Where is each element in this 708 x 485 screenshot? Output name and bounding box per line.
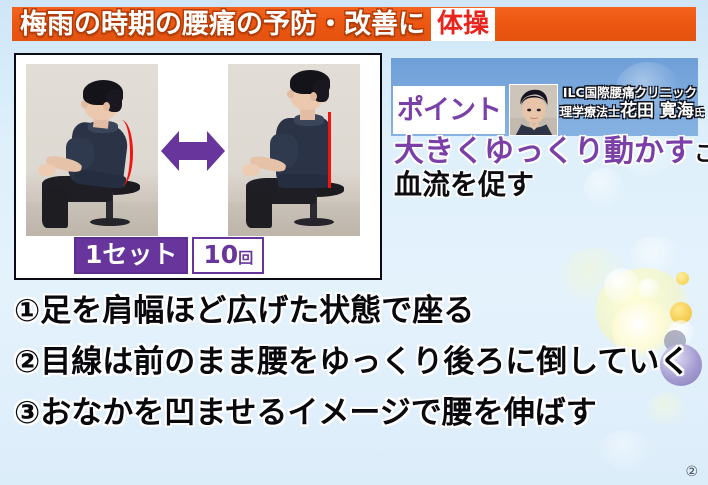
spine-straight-marker — [314, 112, 331, 188]
stool-base — [294, 218, 334, 226]
point-heading: ポイント — [397, 97, 501, 124]
point-line-2: 血流を促す — [394, 171, 706, 199]
reps-label: 10回 — [192, 237, 264, 274]
set-label: 1セット — [74, 237, 188, 274]
infographic-screen: 梅雨の時期の腰痛の予防・改善に 体操 — [0, 0, 708, 485]
hand — [242, 164, 260, 176]
credit-suffix: 氏 — [694, 108, 704, 119]
page-title: 梅雨の時期の腰痛の予防・改善に — [20, 11, 425, 38]
lower-leg — [246, 190, 272, 228]
credit-clinic: ILC国際腰痛クリニック — [560, 86, 700, 100]
bubble-decor-icon — [628, 236, 682, 276]
ear — [103, 102, 110, 111]
hand — [38, 164, 56, 176]
photo-upright — [228, 64, 360, 236]
step-item: ③おなかを凹ませるイメージで腰を伸ばす — [14, 398, 696, 429]
expert-credit: ILC国際腰痛クリニック 理学療法士花田 寛海氏 — [560, 86, 700, 122]
title-badge: 体操 — [431, 8, 495, 41]
point-heading-chip: ポイント — [393, 86, 505, 134]
point-emphasis: 大きくゆっくり動かす — [394, 134, 694, 169]
reps-unit: 回 — [238, 249, 253, 267]
instruction-steps: ①足を肩幅ほど広げた状態で座る ②目線は前のまま腰をゆっくり後ろに倒していく ③… — [14, 296, 696, 449]
double-arrow-icon — [161, 125, 225, 177]
expert-portrait — [509, 84, 558, 136]
exercise-photo-panel: 1セット 10回 — [14, 53, 382, 280]
ear — [310, 92, 317, 101]
reps-number: 10 — [203, 240, 238, 269]
stool-base — [90, 218, 130, 226]
step-item: ①足を肩幅ほど広げた状態で座る — [14, 296, 696, 327]
page-marker: ② — [685, 465, 698, 479]
point-line-2-text: 血流を促す — [394, 168, 534, 201]
bubble-decor-icon — [676, 272, 689, 285]
credit-role: 理学療法士 — [560, 105, 620, 119]
credit-name-line: 理学療法士花田 寛海氏 — [560, 102, 700, 122]
title-bar: 梅雨の時期の腰痛の予防・改善に 体操 — [12, 7, 696, 41]
set-reps-labels: 1セット 10回 — [74, 237, 264, 274]
step-item: ②目線は前のまま腰をゆっくり後ろに倒していく — [14, 347, 696, 378]
point-body: 大きくゆっくり動かすことで 血流を促す — [394, 137, 706, 199]
point-line-1: 大きくゆっくり動かすことで — [394, 137, 706, 167]
point-tail: ことで — [694, 142, 708, 167]
lower-leg — [42, 188, 68, 228]
photo-leaning-back — [26, 64, 158, 236]
credit-name: 花田 寛海 — [620, 101, 694, 121]
